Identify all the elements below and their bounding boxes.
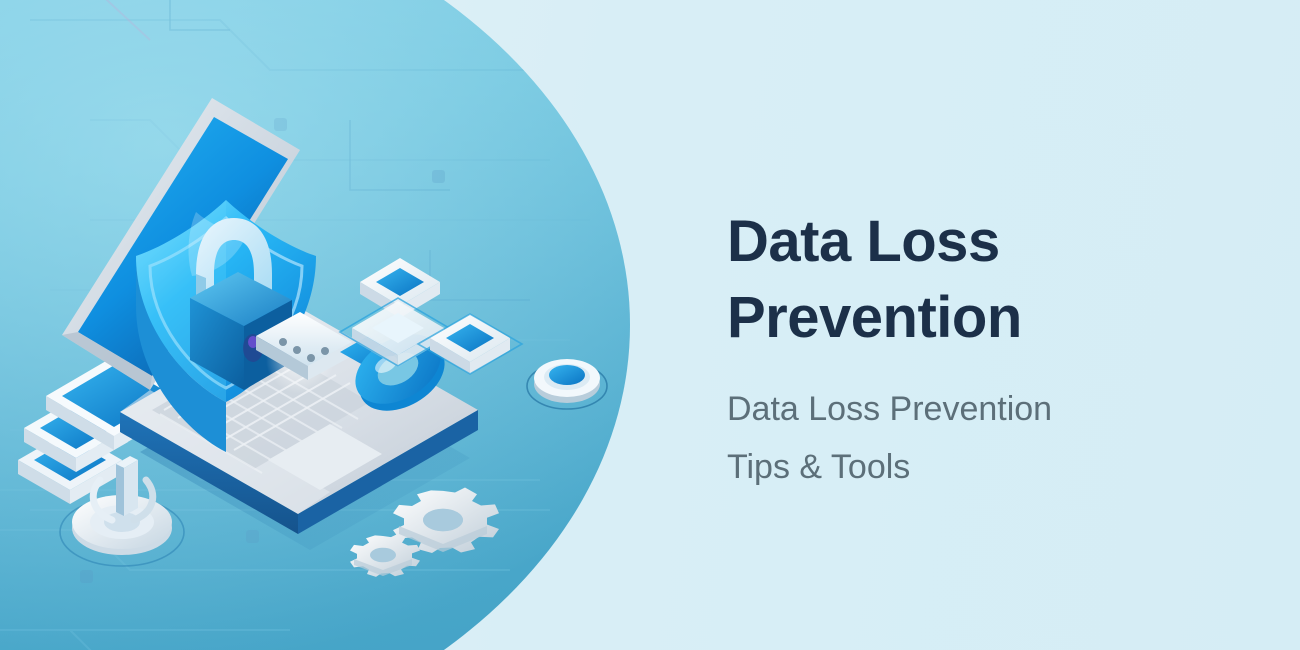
text-column: Data Loss Prevention Data Loss Preventio… [727, 204, 1197, 496]
gear-large [393, 488, 499, 554]
round-button [527, 359, 607, 409]
page-subtitle: Data Loss Prevention Tips & Tools [727, 380, 1197, 496]
gear-small [350, 534, 420, 577]
page-title: Data Loss Prevention [727, 204, 1197, 356]
banner-root: Data Loss Prevention Data Loss Preventio… [0, 0, 1300, 650]
illustration-scene [0, 60, 640, 620]
